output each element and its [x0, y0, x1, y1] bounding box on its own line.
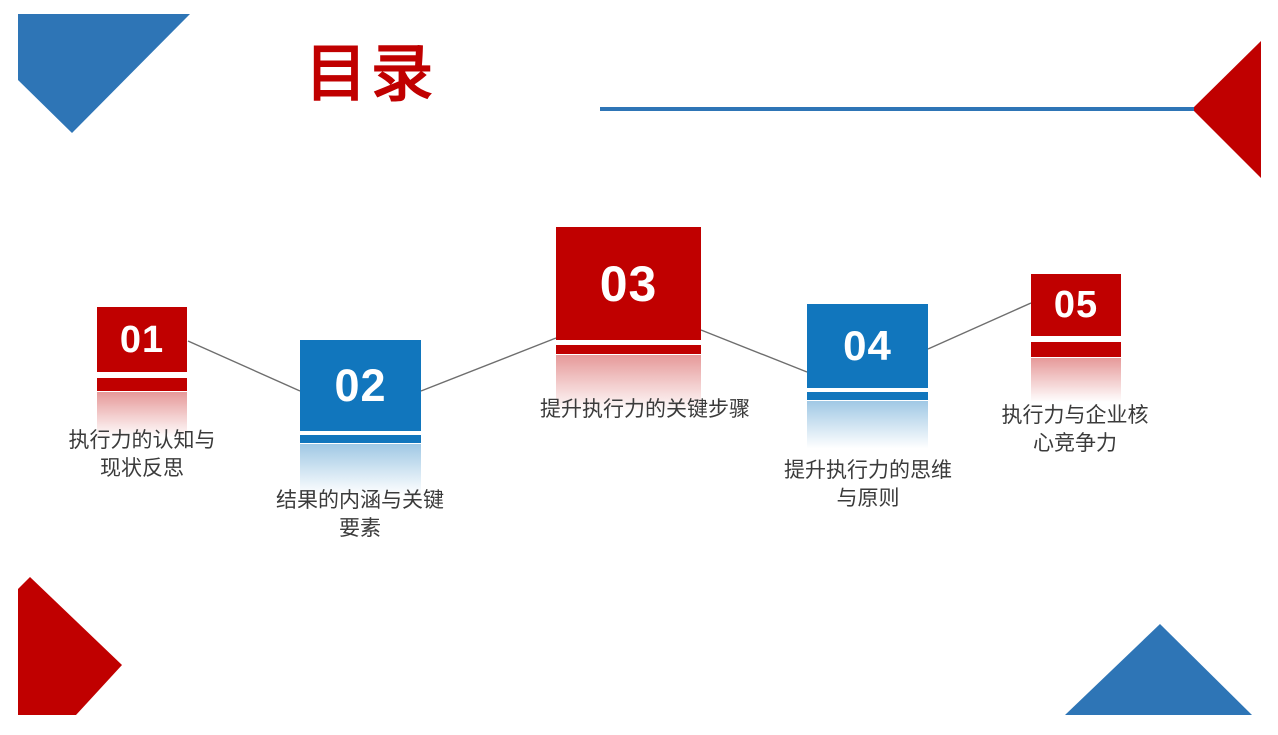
- step-number-02: 02: [334, 363, 386, 408]
- step-chip-03[interactable]: 03: [556, 227, 701, 340]
- step-number-05: 05: [1054, 286, 1098, 324]
- step-chip-underbar-01: [97, 378, 187, 391]
- step-number-01: 01: [120, 321, 164, 359]
- step-chip-05[interactable]: 05: [1031, 274, 1121, 336]
- step-number-04: 04: [843, 325, 892, 367]
- step-number-03: 03: [600, 259, 658, 309]
- step-chip-01[interactable]: 01: [97, 307, 187, 372]
- step-caption-03: 提升执行力的关键步骤: [500, 396, 790, 424]
- step-chip-underbar-02: [300, 435, 421, 443]
- step-chip-02[interactable]: 02: [300, 340, 421, 431]
- step-caption-05: 执行力与企业核 心竞争力: [955, 402, 1195, 457]
- step-chip-04[interactable]: 04: [807, 304, 928, 388]
- step-caption-01: 执行力的认知与 现状反思: [22, 427, 262, 482]
- step-chip-underbar-04: [807, 392, 928, 400]
- step-caption-04: 提升执行力的思维 与原则: [748, 457, 988, 512]
- step-caption-02: 结果的内涵与关键 要素: [240, 487, 480, 542]
- step-chip-reflection-04: [807, 401, 928, 459]
- step-chip-underbar-03: [556, 345, 701, 354]
- slide-canvas: 目录 01 执行力的认知与 现状反思 02 结果的内涵与关键 要素 03 提: [0, 0, 1278, 735]
- step-chip-underbar-05: [1031, 342, 1121, 357]
